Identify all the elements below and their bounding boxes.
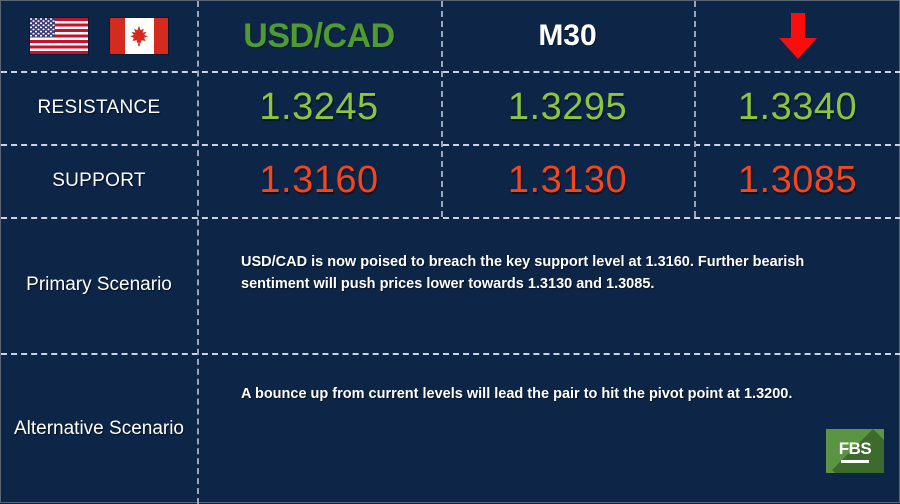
primary-scenario-text: USD/CAD is now poised to breach the key … — [241, 251, 841, 295]
fbs-logo: FBS — [826, 429, 884, 473]
resistance-value-3: 1.3340 — [738, 86, 857, 129]
canada-flag-icon — [110, 18, 168, 54]
support-value-3: 1.3085 — [738, 159, 857, 202]
support-label-cell: SUPPORT — [1, 144, 197, 217]
alternative-scenario-text: A bounce up from current levels will lea… — [241, 383, 821, 405]
canada-flag-right-bar — [154, 18, 169, 54]
alternative-scenario-label-cell: Alternative Scenario — [1, 353, 197, 504]
support-value-3-cell: 1.3085 — [694, 144, 900, 217]
resistance-value-1: 1.3245 — [259, 86, 378, 129]
timeframe-cell: M30 — [441, 1, 694, 71]
support-label: SUPPORT — [52, 170, 146, 192]
resistance-label: RESISTANCE — [37, 97, 160, 119]
resistance-value-2-cell: 1.3295 — [441, 71, 694, 144]
flags-cell — [1, 1, 197, 71]
timeframe-label: M30 — [538, 19, 596, 53]
us-flag-icon — [30, 18, 88, 54]
fbs-logo-mark: FBS — [826, 429, 884, 473]
us-flag-stars — [30, 18, 55, 37]
support-value-1: 1.3160 — [259, 159, 378, 202]
arrow-down-icon — [776, 11, 820, 61]
resistance-value-1-cell: 1.3245 — [197, 71, 441, 144]
forex-analysis-card: USD/CAD M30 RESISTANCE 1.3245 1.3295 1.3… — [0, 0, 900, 503]
support-value-2-cell: 1.3130 — [441, 144, 694, 217]
resistance-label-cell: RESISTANCE — [1, 71, 197, 144]
maple-leaf-icon — [129, 25, 149, 47]
alternative-scenario-label: Alternative Scenario — [14, 415, 184, 443]
canada-flag-left-bar — [110, 18, 125, 54]
support-value-1-cell: 1.3160 — [197, 144, 441, 217]
fbs-logo-underline — [841, 460, 869, 463]
currency-pair-cell: USD/CAD — [197, 1, 441, 71]
resistance-value-2: 1.3295 — [508, 86, 627, 129]
primary-scenario-label: Primary Scenario — [26, 271, 172, 299]
support-value-2: 1.3130 — [508, 159, 627, 202]
currency-pair-title: USD/CAD — [243, 17, 394, 56]
trend-cell — [694, 1, 900, 71]
resistance-value-3-cell: 1.3340 — [694, 71, 900, 144]
fbs-logo-text: FBS — [839, 440, 872, 457]
primary-scenario-label-cell: Primary Scenario — [1, 217, 197, 353]
